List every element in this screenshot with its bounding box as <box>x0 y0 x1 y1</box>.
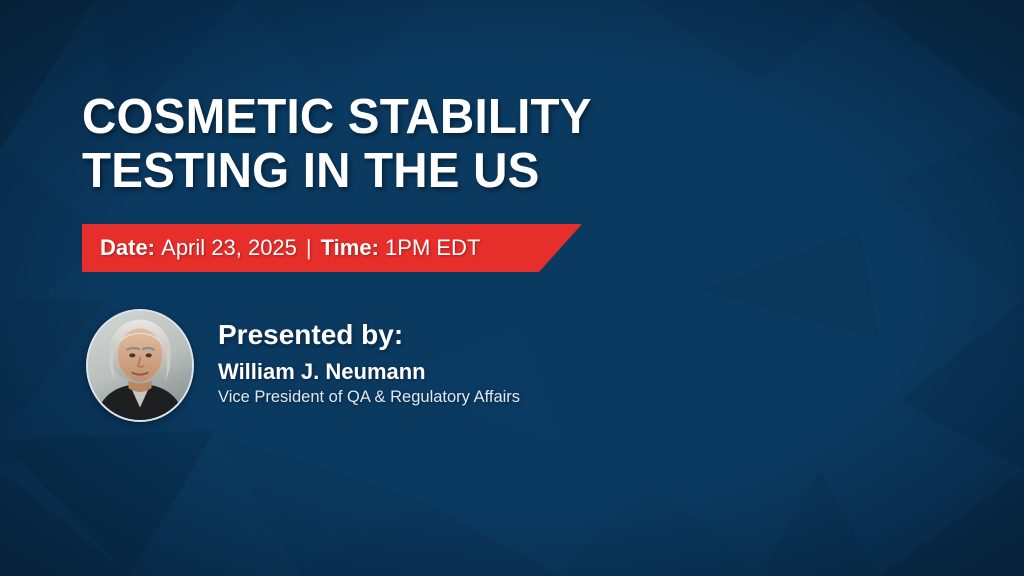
presented-by-label: Presented by: <box>218 319 520 351</box>
presenter-role: Vice President of QA & Regulatory Affair… <box>218 388 520 407</box>
time-value: 1PM EDT <box>385 235 480 260</box>
presenter-headshot-illustration <box>88 311 192 420</box>
webinar-title-slide: COSMETIC STABILITY TESTING IN THE US Dat… <box>0 0 1024 576</box>
presenter-text-group: Presented by: William J. Neumann Vice Pr… <box>218 319 520 407</box>
banner-separator: | <box>297 235 321 260</box>
date-value: April 23, 2025 <box>161 235 297 260</box>
polygon-facets-svg <box>0 0 1024 576</box>
background-polygon-pattern <box>0 0 1024 576</box>
slide-title-line-1: COSMETIC STABILITY <box>82 90 703 144</box>
presenter-block: Presented by: William J. Neumann Vice Pr… <box>86 309 786 429</box>
date-time-banner: Date: April 23, 2025|Time: 1PM EDT <box>82 224 582 272</box>
presenter-name: William J. Neumann <box>218 359 520 384</box>
time-label: Time: <box>321 235 379 260</box>
date-time-banner-text: Date: April 23, 2025|Time: 1PM EDT <box>82 237 480 259</box>
presenter-avatar <box>86 309 194 422</box>
slide-title-line-2: TESTING IN THE US <box>82 144 703 198</box>
date-label: Date: <box>100 235 155 260</box>
slide-title: COSMETIC STABILITY TESTING IN THE US <box>82 90 703 198</box>
